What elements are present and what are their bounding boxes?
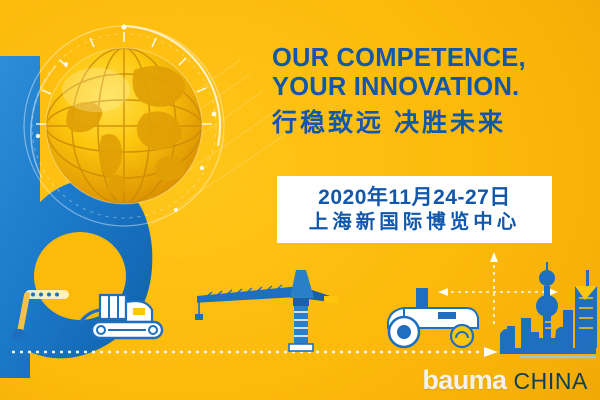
vignette-overlay bbox=[0, 0, 600, 400]
bauma-china-logo: bauma CHINA bbox=[422, 367, 588, 394]
poster-canvas: OUR COMPETENCE, YOUR INNOVATION. 行稳致远 决胜… bbox=[0, 0, 600, 400]
logo-brand-text: bauma bbox=[422, 367, 506, 394]
logo-region-text: CHINA bbox=[513, 370, 588, 393]
